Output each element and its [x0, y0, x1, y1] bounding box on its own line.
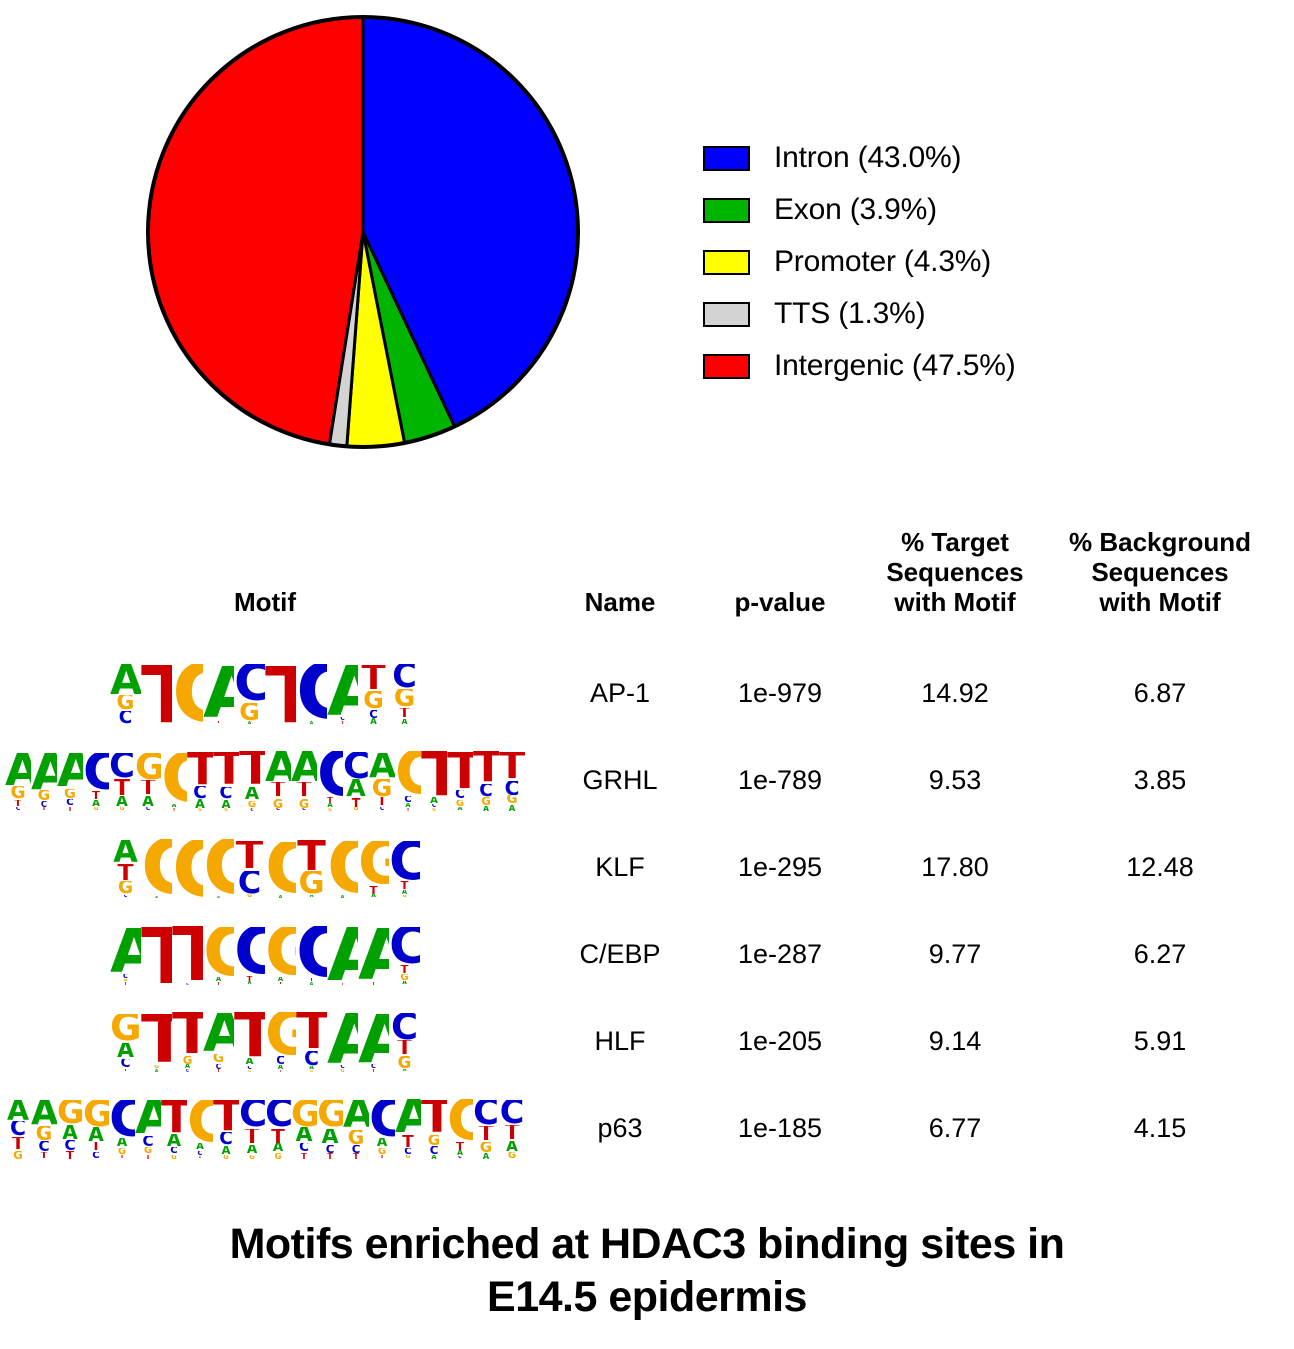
logo-letter-T: T: [135, 1155, 161, 1160]
logo-letter-C: C: [239, 808, 265, 811]
logo-letter-A: A: [343, 779, 369, 798]
logo-letter-T: T: [135, 780, 161, 796]
logo-letter-G: G: [327, 841, 358, 896]
logo-letter-C: C: [389, 927, 420, 965]
logo-letter-C: C: [83, 1152, 109, 1159]
logo-position: AGTC: [369, 750, 395, 812]
logo-letter-C: C: [265, 808, 291, 812]
logo-letter-C: C: [110, 711, 141, 725]
logo-letter-A: A: [389, 1069, 420, 1073]
logo-letter-C: C: [395, 1148, 421, 1155]
table-row: AGTCAGCTAGCTCTAGCTAGGTACGATTCAGTCAGTAGCA…: [0, 737, 1294, 824]
legend-item-exon: Exon (3.9%): [703, 184, 1283, 236]
logo-position: GAT: [161, 750, 187, 812]
logo-letter-C: C: [5, 807, 31, 811]
cell-motif-name: AP-1: [540, 650, 700, 737]
logo-letter-A: A: [358, 928, 389, 983]
logo-position: TCGA: [499, 750, 525, 812]
logo-letter-A: A: [109, 1138, 135, 1148]
logo-position: TGA: [141, 1011, 172, 1073]
motif-enrichment-table: Motif Name p-value % Target Sequences wi…: [0, 530, 1294, 1172]
logo-letter-G: G: [389, 689, 420, 708]
logo-position: GCAT: [265, 1011, 296, 1073]
logo-position: ATGC: [110, 837, 141, 899]
logo-letter-A: A: [83, 1127, 109, 1142]
logo-letter-G: G: [389, 974, 420, 981]
logo-letter-T: T: [187, 1156, 213, 1160]
logo-position: GTA: [358, 837, 389, 899]
logo-letter-C: C: [172, 1069, 203, 1072]
logo-letter-T: T: [265, 982, 296, 986]
logo-letter-C: C: [109, 1100, 135, 1138]
table-row: ACGTTTCGATCTAGATCTAATATCTGAC/EBP1e-2879.…: [0, 911, 1294, 998]
logo-position: T: [265, 663, 296, 725]
logo-letter-C: C: [343, 1145, 369, 1154]
logo-letter-G: G: [369, 1148, 395, 1155]
cell-p-value: 1e-789: [700, 737, 860, 824]
cell-motif-name: C/EBP: [540, 911, 700, 998]
logo-letter-A: A: [358, 1014, 389, 1065]
logo-letter-A: A: [296, 895, 327, 899]
logo-letter-G: G: [296, 1070, 327, 1073]
table-header-row: Motif Name p-value % Target Sequences wi…: [0, 530, 1294, 650]
logo-position: TCAG: [187, 750, 213, 812]
logo-position: CA: [296, 663, 327, 725]
logo-position: TC: [172, 924, 203, 986]
logo-letter-A: A: [110, 928, 141, 974]
logo-position: GACT: [317, 1098, 343, 1160]
logo-letter-C: C: [473, 784, 499, 798]
logo-position: ATCG: [395, 1098, 421, 1160]
pie-chart-section: Intron (43.0%)Exon (3.9%)Promoter (4.3%)…: [0, 0, 1294, 470]
logo-letter-T: T: [291, 782, 317, 798]
logo-letter-A: A: [110, 840, 141, 864]
logo-letter-T: T: [499, 1125, 525, 1141]
logo-letter-T: T: [141, 665, 172, 725]
logo-position: GAT: [203, 924, 234, 986]
logo-letter-C: C: [83, 753, 109, 791]
logo-letter-G: G: [389, 1056, 420, 1068]
logo-letter-G: G: [187, 808, 213, 811]
logo-letter-G: G: [5, 1151, 31, 1160]
logo-letter-C: C: [395, 796, 421, 803]
logo-letter-T: T: [327, 983, 358, 986]
logo-position: CTA: [296, 924, 327, 986]
logo-position: TAGC: [239, 750, 265, 812]
logo-letter-G: G: [161, 1155, 187, 1160]
logo-letter-T: T: [172, 926, 203, 983]
cell-background-percent: 6.27: [1046, 911, 1274, 998]
logo-letter-T: T: [447, 1142, 473, 1151]
logo-letter-G: G: [172, 664, 203, 724]
cell-background-percent: 4.15: [1046, 1085, 1274, 1172]
logo-letter-G: G: [265, 927, 296, 977]
logo-letter-A: A: [327, 895, 358, 898]
logo-letter-C: C: [343, 752, 369, 779]
cell-target-percent: 9.77: [860, 911, 1050, 998]
logo-letter-A: A: [5, 753, 31, 787]
logo-letter-T: T: [265, 666, 296, 725]
logo-position: TCGA: [447, 750, 473, 812]
cell-p-value: 1e-979: [700, 650, 860, 737]
logo-letter-G: G: [358, 841, 389, 886]
logo-position: AT: [327, 924, 358, 986]
logo-letter-C: C: [358, 710, 389, 719]
logo-position: TCAG: [213, 750, 239, 812]
logo-letter-G: G: [389, 895, 420, 899]
logo-position: TGCA: [421, 1098, 447, 1160]
logo-position: AGCT: [203, 1011, 234, 1073]
logo-letter-T: T: [5, 800, 31, 807]
logo-position: GAT: [265, 924, 296, 986]
cell-target-percent: 9.53: [860, 737, 1050, 824]
logo-letter-G: G: [172, 840, 203, 899]
logo-letter-G: G: [265, 1012, 296, 1057]
logo-letter-A: A: [141, 1069, 172, 1072]
logo-letter-T: T: [265, 1129, 291, 1144]
logo-position: G: [172, 663, 203, 725]
logo-letter-G: G: [110, 695, 141, 711]
logo-letter-C: C: [447, 1156, 473, 1160]
logo-position: TCAG: [296, 1011, 327, 1073]
logo-letter-A: A: [291, 751, 317, 782]
legend-swatch-promoter: [703, 250, 750, 275]
logo-letter-T: T: [213, 1100, 239, 1132]
logo-letter-G: G: [447, 1099, 473, 1141]
logo-position: TACG: [234, 1011, 265, 1073]
logo-letter-A: A: [213, 1146, 239, 1155]
logo-position: TGCA: [358, 663, 389, 725]
logo-letter-G: G: [110, 881, 141, 895]
logo-position: GA: [141, 837, 172, 899]
logo-letter-A: A: [499, 805, 525, 811]
logo-position: CTAG: [265, 1098, 291, 1160]
logo-letter-C: C: [291, 1143, 317, 1153]
logo-letter-G: G: [203, 839, 234, 896]
logo-position: GA: [327, 837, 358, 899]
logo-letter-C: C: [110, 1059, 141, 1069]
cell-p-value: 1e-205: [700, 998, 860, 1085]
logo-position: AGC: [110, 663, 141, 725]
logo-position: ATGC: [265, 750, 291, 812]
logo-letter-T: T: [83, 1142, 109, 1152]
logo-letter-C: C: [213, 787, 239, 800]
logo-letter-A: A: [265, 895, 296, 898]
logo-position: T: [141, 663, 172, 725]
logo-letter-T: T: [343, 1153, 369, 1159]
logo-letter-G: G: [265, 1153, 291, 1159]
logo-letter-A: A: [473, 1153, 499, 1159]
logo-letter-T: T: [31, 1152, 57, 1159]
logo-position: G: [172, 837, 203, 899]
logo-letter-G: G: [473, 797, 499, 806]
logo-position: ACTG: [5, 1098, 31, 1160]
logo-position: TCGA: [473, 750, 499, 812]
logo-letter-A: A: [57, 753, 83, 789]
logo-letter-T: T: [369, 1155, 395, 1159]
logo-position: ACT: [327, 663, 358, 725]
column-header-background-line1: % Background: [1046, 527, 1274, 557]
logo-letter-A: A: [203, 1013, 234, 1054]
logo-position: TCG: [234, 837, 265, 899]
logo-letter-T: T: [234, 1012, 265, 1058]
logo-letter-A: A: [265, 1143, 291, 1153]
logo-letter-G: G: [343, 1130, 369, 1145]
logo-letter-G: G: [291, 1100, 317, 1127]
logo-letter-A: A: [135, 1100, 161, 1136]
logo-letter-T: T: [57, 1151, 83, 1160]
logo-letter-C: C: [296, 1051, 327, 1066]
logo-letter-T: T: [110, 982, 141, 985]
logo-letter-A: A: [358, 894, 389, 898]
logo-letter-T: T: [31, 807, 57, 811]
logo-position: CTAG: [109, 750, 135, 812]
logo-letter-A: A: [234, 982, 265, 986]
logo-letter-A: A: [213, 800, 239, 809]
logo-letter-T: T: [358, 1069, 389, 1072]
cell-background-percent: 3.85: [1046, 737, 1274, 824]
logo-letter-C: C: [296, 926, 327, 978]
logo-letter-A: A: [447, 807, 473, 811]
logo-position: AGCT: [31, 1098, 57, 1160]
cell-p-value: 1e-287: [700, 911, 860, 998]
cell-background-percent: 5.91: [1046, 998, 1274, 1085]
logo-position: GA: [265, 837, 296, 899]
logo-position: GTAC: [135, 750, 161, 812]
logo-letter-T: T: [499, 752, 525, 781]
logo-letter-T: T: [291, 1153, 317, 1159]
column-header-target-line2: Sequences: [860, 557, 1050, 587]
logo-letter-A: A: [473, 806, 499, 812]
logo-position: CAGT: [369, 1098, 395, 1160]
logo-letter-G: G: [421, 808, 447, 811]
cell-p-value: 1e-185: [700, 1085, 860, 1172]
logo-letter-A: A: [239, 1145, 265, 1155]
logo-letter-G: G: [110, 1014, 141, 1043]
logo-letter-T: T: [389, 881, 420, 890]
logo-letter-T: T: [358, 665, 389, 691]
column-header-target-sequences: % Target Sequences with Motif: [860, 527, 1050, 617]
logo-letter-C: C: [499, 781, 525, 796]
logo-position: TACG: [161, 1098, 187, 1160]
logo-letter-C: C: [473, 1100, 499, 1126]
logo-letter-T: T: [57, 807, 83, 812]
logo-letter-G: G: [317, 808, 343, 811]
logo-letter-G: G: [395, 1155, 421, 1159]
logo-letter-A: A: [141, 896, 172, 899]
logo-letter-T: T: [213, 752, 239, 787]
logo-letter-T: T: [389, 708, 420, 719]
logo-letter-G: G: [473, 1142, 499, 1153]
logo-letter-A: A: [291, 1127, 317, 1143]
logo-letter-G: G: [161, 753, 187, 804]
table-row: AGCTGATCGATCAACTTGCACGTAAP-11e-97914.926…: [0, 650, 1294, 737]
logo-letter-C: C: [135, 1136, 161, 1147]
logo-letter-T: T: [327, 721, 358, 724]
logo-letter-G: G: [447, 800, 473, 807]
logo-letter-G: G: [296, 871, 327, 895]
legend-label-intron: Intron (43.0%): [774, 143, 961, 173]
logo-position: GACT: [187, 1098, 213, 1160]
column-header-target-line3: with Motif: [860, 587, 1050, 617]
logo-letter-A: A: [389, 719, 420, 725]
logo-letter-T: T: [110, 1069, 141, 1073]
table-row: ATGCGAGGATCGGATGAGAGTACTAGKLF1e-29517.80…: [0, 824, 1294, 911]
logo-position: CGTA: [389, 663, 420, 725]
logo-letter-A: A: [369, 1138, 395, 1148]
pie-slices-group: [148, 17, 578, 447]
logo-position: CTGA: [389, 1011, 420, 1073]
logo-position: GACT: [291, 1098, 317, 1160]
logo-letter-A: A: [358, 718, 389, 724]
logo-letter-G: G: [265, 842, 296, 895]
logo-letter-A: A: [389, 981, 420, 985]
table-row: GACTTGATGACAGCTTACGGCATTCAGACGACTCTGAHLF…: [0, 998, 1294, 1085]
logo-letter-A: A: [109, 796, 135, 807]
logo-position: CTGA: [473, 1098, 499, 1160]
legend-swatch-exon: [703, 198, 750, 223]
logo-letter-T: T: [473, 1126, 499, 1142]
cell-background-percent: 6.87: [1046, 650, 1274, 737]
logo-letter-G: G: [109, 1148, 135, 1155]
logo-letter-T: T: [265, 1070, 296, 1073]
logo-letter-C: C: [369, 807, 395, 811]
logo-letter-T: T: [187, 752, 213, 786]
logo-letter-T: T: [203, 1069, 234, 1072]
legend-swatch-intron: [703, 146, 750, 171]
logo-position: TGAC: [172, 1011, 203, 1073]
logo-letter-A: A: [203, 666, 234, 721]
logo-letter-T: T: [358, 982, 389, 985]
logo-letter-T: T: [421, 1100, 447, 1135]
logo-letter-T: T: [421, 751, 447, 797]
logo-letter-C: C: [447, 790, 473, 800]
logo-letter-G: G: [57, 1100, 83, 1125]
logo-position: CATG: [343, 750, 369, 812]
logo-letter-G: G: [234, 703, 265, 722]
logo-letter-C: C: [135, 807, 161, 811]
figure-title: Motifs enriched at HDAC3 binding sites i…: [0, 1218, 1294, 1324]
column-header-background-line2: Sequences: [1046, 557, 1274, 587]
logo-position: ACT: [358, 1011, 389, 1073]
motif-logo-klf: ATGCGAGGATCGGATGAGAGTACTAG: [0, 824, 530, 911]
cell-motif-name: KLF: [540, 824, 700, 911]
cell-p-value: 1e-295: [700, 824, 860, 911]
logo-position: T: [141, 924, 172, 986]
legend-item-intergenic: Intergenic (47.5%): [703, 340, 1283, 392]
logo-position: CTAG: [83, 750, 109, 812]
logo-position: TCAG: [213, 1098, 239, 1160]
logo-position: CTAG: [239, 1098, 265, 1160]
figure-title-line1: Motifs enriched at HDAC3 binding sites i…: [0, 1218, 1294, 1271]
figure-title-line2: E14.5 epidermis: [0, 1271, 1294, 1324]
logo-letter-C: C: [499, 1100, 525, 1125]
column-header-background-line3: with Motif: [1046, 587, 1274, 617]
logo-letter-C: C: [161, 1147, 187, 1154]
logo-letter-T: T: [141, 1014, 172, 1065]
cell-target-percent: 6.77: [860, 1085, 1050, 1172]
logo-letter-G: G: [234, 894, 265, 898]
logo-letter-T: T: [109, 1155, 135, 1159]
logo-letter-C: C: [234, 871, 265, 895]
pie-legend: Intron (43.0%)Exon (3.9%)Promoter (4.3%)…: [703, 132, 1283, 392]
column-header-motif: Motif: [120, 587, 410, 617]
logo-letter-T: T: [395, 1135, 421, 1147]
logo-letter-C: C: [239, 1100, 265, 1129]
logo-letter-G: G: [499, 795, 525, 805]
logo-letter-C: C: [265, 1056, 296, 1065]
logo-letter-C: C: [57, 1140, 83, 1151]
logo-letter-G: G: [213, 1155, 239, 1160]
logo-position: CTAG: [317, 750, 343, 812]
logo-letter-A: A: [234, 1058, 265, 1065]
logo-letter-G: G: [203, 1054, 234, 1064]
logo-letter-T: T: [141, 927, 172, 985]
logo-letter-C: C: [31, 1141, 57, 1152]
logo-letter-T: T: [473, 751, 499, 783]
logo-position: CAGT: [109, 1098, 135, 1160]
motif-logo-p63: ACTGAGCTGACTGATCCAGTACGTTACGGACTTCAGCTAG…: [0, 1085, 530, 1172]
logo-letter-A: A: [135, 796, 161, 807]
logo-letter-T: T: [83, 791, 109, 800]
logo-letter-A: A: [187, 799, 213, 808]
logo-position: GA: [203, 837, 234, 899]
logo-position: GATC: [83, 1098, 109, 1160]
logo-letter-G: G: [239, 801, 265, 808]
logo-letter-C: C: [389, 841, 420, 881]
genomic-distribution-pie-chart: [133, 2, 593, 462]
logo-letter-G: G: [395, 751, 421, 796]
logo-letter-G: G: [291, 799, 317, 808]
logo-letter-C: C: [291, 808, 317, 812]
logo-letter-G: G: [83, 807, 109, 811]
logo-letter-C: C: [213, 1132, 239, 1146]
logo-letter-C: C: [109, 753, 135, 779]
logo-letter-C: C: [369, 1100, 395, 1138]
logo-letter-A: A: [5, 1100, 31, 1121]
logo-letter-A: A: [239, 787, 265, 801]
logo-letter-C: C: [234, 664, 265, 702]
cell-target-percent: 14.92: [860, 650, 1050, 737]
column-header-target-line1: % Target: [860, 527, 1050, 557]
logo-letter-G: G: [57, 789, 83, 800]
logo-letter-C: C: [5, 1121, 31, 1137]
logo-letter-T: T: [389, 1040, 420, 1056]
logo-position: AT: [203, 663, 234, 725]
motif-logo-cebp: ACGTTTCGATCTAGATCTAATATCTGA: [0, 911, 530, 998]
logo-letter-C: C: [296, 664, 327, 722]
cell-background-percent: 12.48: [1046, 824, 1274, 911]
legend-label-intergenic: Intergenic (47.5%): [774, 351, 1016, 381]
logo-letter-G: G: [31, 1126, 57, 1141]
logo-letter-G: G: [135, 753, 161, 780]
logo-letter-A: A: [296, 721, 327, 724]
logo-letter-G: G: [327, 1069, 358, 1072]
logo-letter-T: T: [109, 779, 135, 796]
motif-logo-grhl: AGTCAGCTAGCTCTAGCTAGGTACGATTCAGTCAGTAGCA…: [0, 737, 530, 824]
motif-logo-ap1: AGCTGATCGATCAACTTGCACGTA: [0, 650, 530, 737]
column-header-name: Name: [540, 587, 700, 617]
logo-letter-G: G: [369, 779, 395, 798]
logo-position: AGTC: [5, 750, 31, 812]
logo-position: CTAG: [499, 1098, 525, 1160]
logo-letter-T: T: [234, 841, 265, 871]
logo-letter-T: T: [317, 1153, 343, 1159]
logo-letter-A: A: [327, 665, 358, 717]
logo-letter-A: A: [31, 1100, 57, 1126]
logo-letter-T: T: [203, 721, 234, 725]
logo-letter-A: A: [110, 664, 141, 695]
